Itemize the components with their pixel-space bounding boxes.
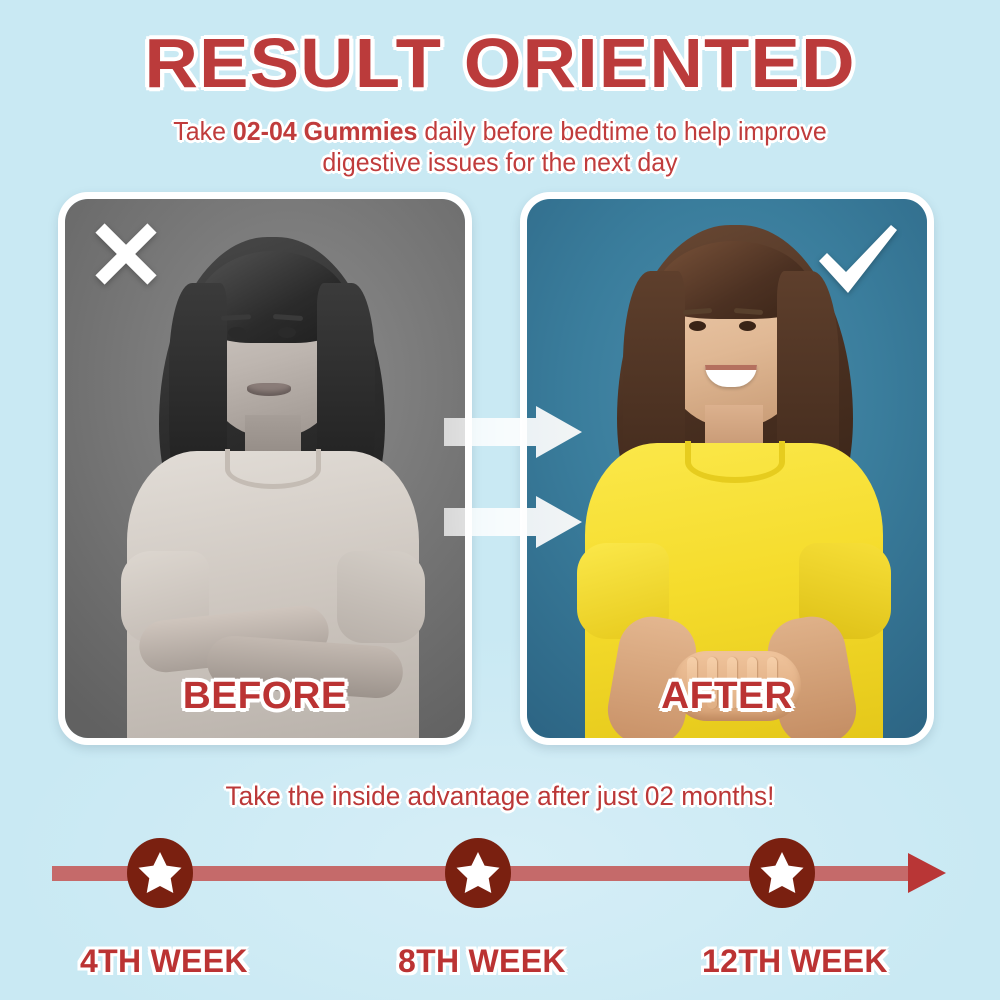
subtitle-suffix: daily before bedtime to help improve xyxy=(417,116,826,146)
milestone-label: 12TH WEEK xyxy=(702,943,862,979)
before-eye-right xyxy=(278,327,296,338)
before-sleeve-right xyxy=(337,551,425,643)
page-title: RESULT ORIENTED xyxy=(0,0,1000,102)
timeline-tagline: Take the inside advantage after just 02 … xyxy=(15,780,985,812)
milestone-dot xyxy=(127,838,193,908)
before-tshirt-collar xyxy=(225,449,321,489)
milestone-dot xyxy=(445,838,511,908)
before-after-comparison: BEFORE xyxy=(0,192,1000,752)
check-mark-icon xyxy=(815,223,901,297)
star-icon xyxy=(760,850,804,894)
timeline-milestone[interactable]: 8TH WEEK xyxy=(398,838,558,979)
after-eye-right xyxy=(739,321,756,331)
milestone-dot xyxy=(749,838,815,908)
after-caption: AFTER xyxy=(523,676,931,716)
after-tshirt-collar xyxy=(685,441,785,483)
star-icon xyxy=(138,850,182,894)
milestone-label: 8TH WEEK xyxy=(398,943,558,979)
after-panel: AFTER xyxy=(520,192,934,745)
timeline-milestone[interactable]: 12TH WEEK xyxy=(702,838,862,979)
progress-timeline: 4TH WEEK 8TH WEEK 12TH WEEK xyxy=(0,838,1000,978)
timeline-milestone[interactable]: 4TH WEEK xyxy=(80,838,240,979)
timeline-end-arrow-icon xyxy=(908,853,946,893)
before-eye-left xyxy=(228,327,246,338)
subtitle-line-2: digestive issues for the next day xyxy=(322,147,677,177)
poster-header: RESULT ORIENTED Take 02-04 Gummies daily… xyxy=(0,0,1000,178)
result-oriented-poster: RESULT ORIENTED Take 02-04 Gummies daily… xyxy=(0,0,1000,1000)
after-eye-left xyxy=(689,321,706,331)
star-icon xyxy=(456,850,500,894)
dosage-instruction: Take 02-04 Gummies daily before bedtime … xyxy=(20,102,980,178)
before-frown-mouth xyxy=(247,383,291,396)
milestone-label: 4TH WEEK xyxy=(80,943,240,979)
before-panel: BEFORE xyxy=(58,192,472,745)
subtitle-dosage-highlight: 02-04 Gummies xyxy=(233,116,418,146)
subtitle-prefix: Take xyxy=(173,116,233,146)
x-mark-icon xyxy=(93,221,159,287)
before-caption: BEFORE xyxy=(61,676,469,716)
